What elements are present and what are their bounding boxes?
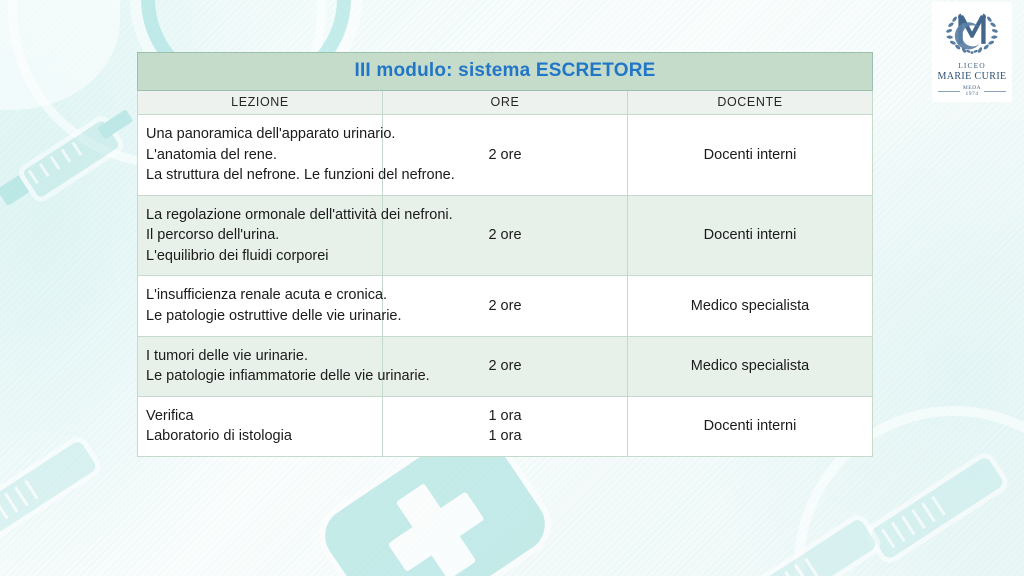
cell-docente: Medico specialista — [628, 336, 873, 396]
schedule-table-container: III modulo: sistema ESCRETORE LEZIONE OR… — [137, 52, 873, 457]
logo-line-name: MARIE CURIE — [937, 71, 1006, 82]
table-header-row: LEZIONE ORE DOCENTE — [138, 91, 873, 115]
ore-value: 2 ore — [386, 296, 624, 317]
lezione-line: Laboratorio di istologia — [146, 426, 382, 447]
cell-lezione: I tumori delle vie urinarie.Le patologie… — [138, 336, 383, 396]
table-title-cell: III modulo: sistema ESCRETORE — [138, 53, 873, 91]
table-row: L'insufficienza renale acuta e cronica.L… — [138, 276, 873, 336]
cell-ore: 2 ore — [383, 115, 628, 196]
table-title-row: III modulo: sistema ESCRETORE — [138, 53, 873, 91]
lezione-line: Una panoramica dell'apparato urinario. — [146, 124, 382, 145]
cell-ore: 2 ore — [383, 276, 628, 336]
cell-lezione: L'insufficienza renale acuta e cronica.L… — [138, 276, 383, 336]
column-header-docente: DOCENTE — [628, 91, 873, 115]
ore-value: 2 ore — [386, 225, 624, 246]
lezione-line: Verifica — [146, 406, 382, 427]
logo-place: MEDA — [963, 85, 981, 91]
cell-ore: 1 ora1 ora — [383, 396, 628, 456]
school-logo: LICEO MARIE CURIE MEDA 1974 — [932, 2, 1012, 102]
schedule-table: III modulo: sistema ESCRETORE LEZIONE OR… — [137, 52, 873, 457]
ore-value: 1 ora — [386, 406, 624, 427]
lezione-line: Il percorso dell'urina. — [146, 225, 382, 246]
logo-rule-left — [938, 91, 960, 92]
logo-line-meda: MEDA 1974 — [963, 85, 981, 98]
cell-lezione: La regolazione ormonale dell'attività de… — [138, 195, 383, 276]
cell-ore: 2 ore — [383, 336, 628, 396]
logo-year: 1974 — [966, 91, 979, 97]
cell-docente: Docenti interni — [628, 396, 873, 456]
lezione-line: L'equilibrio dei fluidi corporei — [146, 246, 382, 267]
column-header-ore: ORE — [383, 91, 628, 115]
ore-value: 1 ora — [386, 426, 624, 447]
table-row: La regolazione ormonale dell'attività de… — [138, 195, 873, 276]
lezione-line: Le patologie ostruttive delle vie urinar… — [146, 306, 382, 327]
lezione-line: L'anatomia del rene. — [146, 145, 382, 166]
lezione-line: I tumori delle vie urinarie. — [146, 346, 382, 367]
column-header-lezione: LEZIONE — [138, 91, 383, 115]
cell-docente: Docenti interni — [628, 195, 873, 276]
logo-line-liceo: LICEO — [958, 61, 986, 70]
mc-monogram-icon — [941, 8, 1003, 60]
lezione-line: Le patologie infiammatorie delle vie uri… — [146, 366, 382, 387]
table-row: Una panoramica dell'apparato urinario.L'… — [138, 115, 873, 196]
table-row: I tumori delle vie urinarie.Le patologie… — [138, 336, 873, 396]
table-row: VerificaLaboratorio di istologia1 ora1 o… — [138, 396, 873, 456]
logo-rule-right — [984, 91, 1006, 92]
cell-docente: Docenti interni — [628, 115, 873, 196]
cell-lezione: Una panoramica dell'apparato urinario.L'… — [138, 115, 383, 196]
cell-docente: Medico specialista — [628, 276, 873, 336]
logo-footer: MEDA 1974 — [938, 85, 1006, 98]
lezione-line: L'insufficienza renale acuta e cronica. — [146, 285, 382, 306]
lezione-line: La regolazione ormonale dell'attività de… — [146, 205, 382, 226]
cell-lezione: VerificaLaboratorio di istologia — [138, 396, 383, 456]
table-title: III modulo: sistema ESCRETORE — [354, 60, 655, 81]
lezione-line: La struttura del nefrone. Le funzioni de… — [146, 165, 382, 186]
ore-value: 2 ore — [386, 145, 624, 166]
